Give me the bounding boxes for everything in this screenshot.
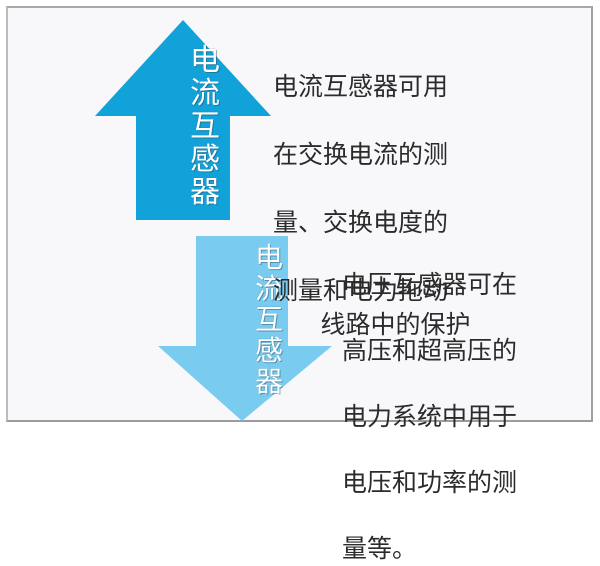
up-arrow-shape[interactable]: 电 流 互 感 器 (93, 20, 273, 222)
paragraph-top-line-3: 量、交换电度的 (273, 210, 448, 237)
paragraph-bottom-line-1: 电压互感器可在 (342, 272, 517, 299)
slide-canvas: 电 流 互 感 器 电 流 互 感 器 电流互感器可用 在交换电流的测 量、交换… (0, 0, 600, 429)
slide-frame: 电 流 互 感 器 电 流 互 感 器 电流互感器可用 在交换电流的测 量、交换… (6, 6, 593, 422)
paragraph-bottom-line-4: 电压和功率的测 (342, 470, 517, 497)
paragraph-top-line-2: 在交换电流的测 (273, 142, 448, 169)
paragraph-bottom-line-3: 电力系统中用于 (342, 404, 517, 431)
paragraph-bottom-line-2: 高压和超高压的 (342, 338, 517, 365)
paragraph-bottom-line-5: 量等。 (342, 536, 417, 563)
paragraph-top-line-1: 电流互感器可用 (273, 74, 448, 101)
voltage-transformer-description: 电压互感器可在 高压和超高压的 电力系统中用于 电压和功率的测 量等。 (342, 236, 592, 566)
up-arrow-label: 电 流 互 感 器 (115, 44, 295, 209)
